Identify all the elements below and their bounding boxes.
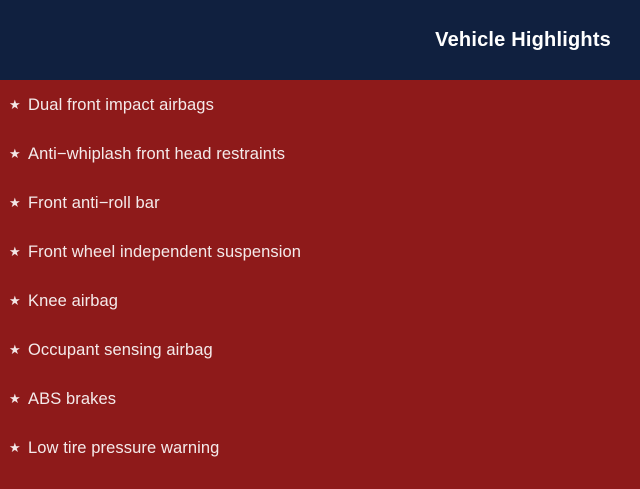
- list-item: ★ ABS brakes: [0, 391, 640, 440]
- list-item: ★ Knee airbag: [0, 293, 640, 342]
- list-item-label: Low tire pressure warning: [28, 440, 219, 457]
- slide-body: ★ Dual front impact airbags ★ Anti−whipl…: [0, 80, 640, 489]
- list-item: ★ Dual front impact airbags: [0, 97, 640, 146]
- list-item-label: ABS brakes: [28, 391, 116, 408]
- list-item-label: Anti−whiplash front head restraints: [28, 146, 285, 163]
- list-item-label: Front wheel independent suspension: [28, 244, 301, 261]
- star-icon: ★: [9, 441, 28, 454]
- star-icon: ★: [9, 98, 28, 111]
- star-icon: ★: [9, 147, 28, 160]
- list-item-label: Occupant sensing airbag: [28, 342, 213, 359]
- star-icon: ★: [9, 392, 28, 405]
- slide-header: Vehicle Highlights: [0, 0, 640, 80]
- list-item: ★ Anti−whiplash front head restraints: [0, 146, 640, 195]
- star-icon: ★: [9, 245, 28, 258]
- list-item: ★ Front wheel independent suspension: [0, 244, 640, 293]
- list-item-label: Knee airbag: [28, 293, 118, 310]
- list-item-label: Front anti−roll bar: [28, 195, 160, 212]
- list-item: ★ Low tire pressure warning: [0, 440, 640, 489]
- list-item: ★ Front anti−roll bar: [0, 195, 640, 244]
- list-item: ★ Occupant sensing airbag: [0, 342, 640, 391]
- highlights-list: ★ Dual front impact airbags ★ Anti−whipl…: [0, 97, 640, 489]
- list-item-label: Dual front impact airbags: [28, 97, 214, 114]
- page-title: Vehicle Highlights: [435, 30, 611, 50]
- star-icon: ★: [9, 196, 28, 209]
- star-icon: ★: [9, 343, 28, 356]
- star-icon: ★: [9, 294, 28, 307]
- vehicle-highlights-slide: Vehicle Highlights ★ Dual front impact a…: [0, 0, 640, 480]
